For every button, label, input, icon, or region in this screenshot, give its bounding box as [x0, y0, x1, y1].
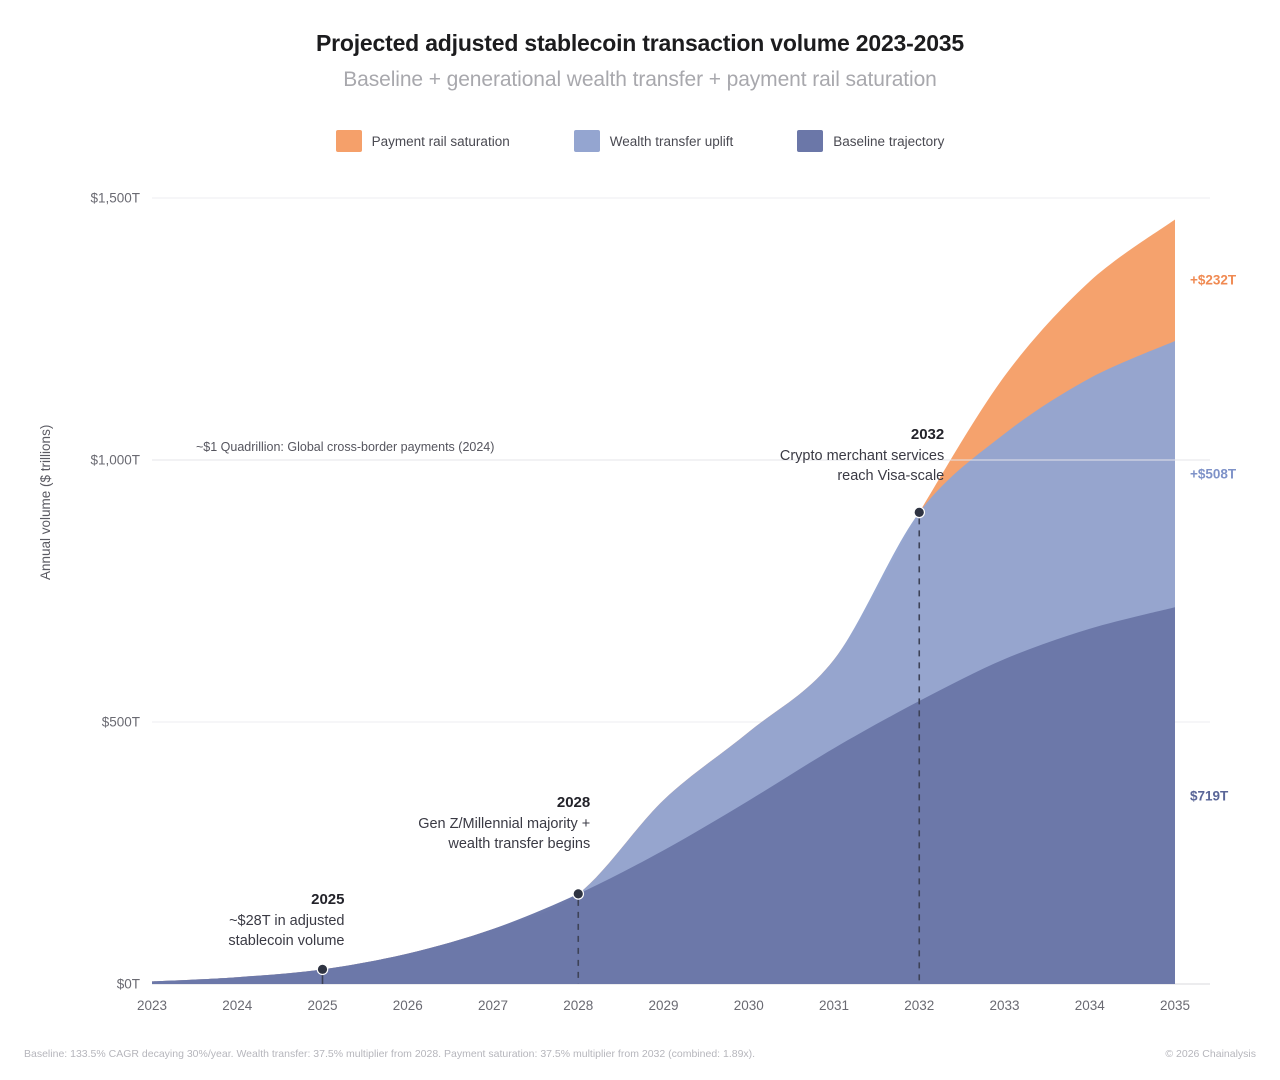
- annotation-2028: 2028Gen Z/Millennial majority + wealth t…: [418, 793, 590, 854]
- x-tick-label-2028: 2028: [538, 998, 618, 1013]
- chart-svg: [0, 0, 1280, 1080]
- edge-label-baseline-total: $719T: [1190, 789, 1228, 804]
- x-tick-label-2029: 2029: [624, 998, 704, 1013]
- annotation-year-2028: 2028: [418, 793, 590, 814]
- copyright-notice: © 2026 Chainalysis: [1165, 1048, 1256, 1060]
- chart-plot-area: [0, 0, 1280, 1080]
- x-tick-label-2033: 2033: [965, 998, 1045, 1013]
- x-tick-label-2032: 2032: [879, 998, 959, 1013]
- y-tick-label-500: $500T: [0, 715, 140, 730]
- methodology-footnote: Baseline: 133.5% CAGR decaying 30%/year.…: [24, 1048, 755, 1060]
- chart-areas: [152, 219, 1175, 984]
- x-tick-label-2030: 2030: [709, 998, 789, 1013]
- x-tick-label-2025: 2025: [283, 998, 363, 1013]
- edge-label-uplift-total: +$508T: [1190, 467, 1236, 482]
- annotation-2025: 2025~$28T in adjusted stablecoin volume: [228, 890, 344, 951]
- edge-label-saturation-total: +$232T: [1190, 273, 1236, 288]
- annotation-text-2032: Crypto merchant services reach Visa-scal…: [780, 446, 944, 486]
- x-tick-label-2023: 2023: [112, 998, 192, 1013]
- y-tick-label-1000: $1,000T: [0, 453, 140, 468]
- x-tick-label-2035: 2035: [1135, 998, 1215, 1013]
- annotation-marker-2028[interactable]: [573, 889, 583, 899]
- x-tick-label-2024: 2024: [197, 998, 277, 1013]
- y-tick-label-1500: $1,500T: [0, 191, 140, 206]
- annotation-marker-2032[interactable]: [914, 507, 924, 517]
- x-tick-label-2027: 2027: [453, 998, 533, 1013]
- reference-line-note: ~$1 Quadrillion: Global cross-border pay…: [196, 440, 494, 454]
- y-axis-title: Annual volume ($ trillions): [38, 425, 53, 580]
- x-tick-label-2031: 2031: [794, 998, 874, 1013]
- annotation-marker-2025[interactable]: [317, 964, 327, 974]
- x-tick-label-2034: 2034: [1050, 998, 1130, 1013]
- x-tick-label-2026: 2026: [368, 998, 448, 1013]
- chart-page: Projected adjusted stablecoin transactio…: [0, 0, 1280, 1080]
- annotation-year-2032: 2032: [780, 425, 944, 446]
- annotation-text-2025: ~$28T in adjusted stablecoin volume: [228, 911, 344, 951]
- y-tick-label-0: $0T: [0, 977, 140, 992]
- annotation-year-2025: 2025: [228, 890, 344, 911]
- annotation-2032: 2032Crypto merchant services reach Visa-…: [780, 425, 944, 486]
- annotation-text-2028: Gen Z/Millennial majority + wealth trans…: [418, 814, 590, 854]
